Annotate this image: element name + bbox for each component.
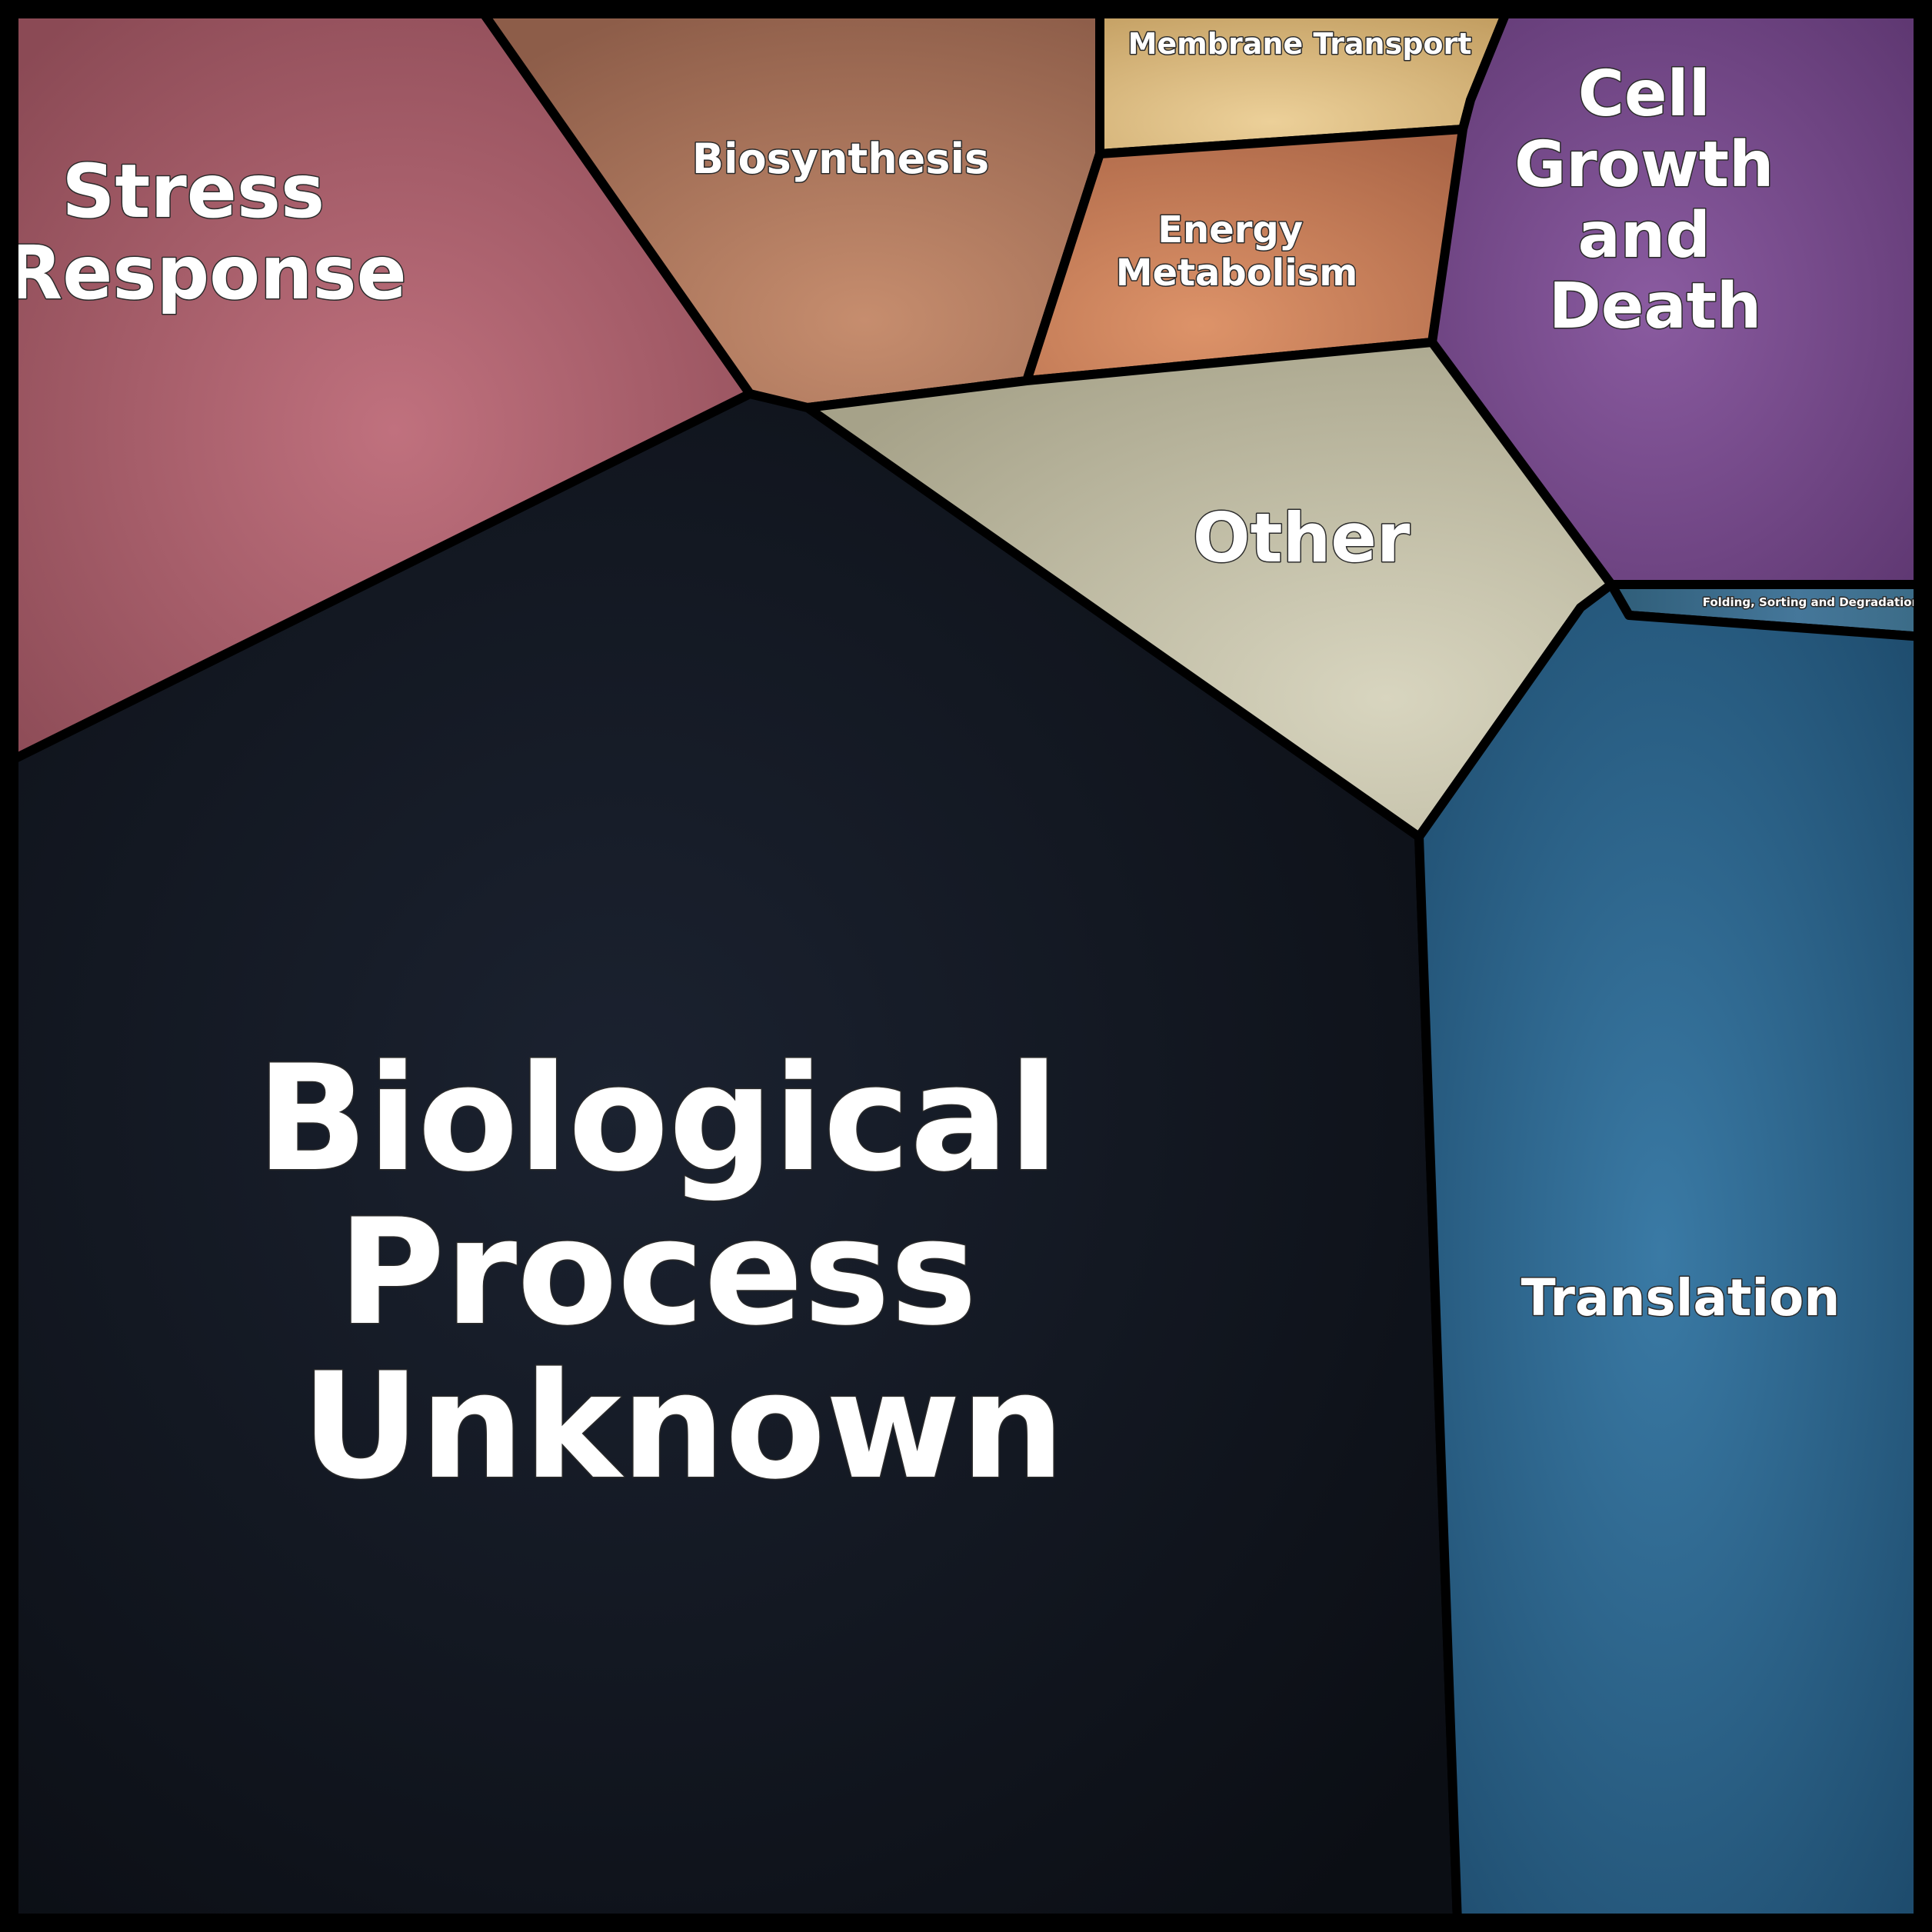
label-line: and — [1578, 199, 1710, 272]
label-line: Metabolism — [1116, 251, 1357, 295]
label-line: Membrane Transport — [1128, 27, 1472, 61]
cell-label-biosynthesis: Biosynthesis — [692, 135, 989, 183]
cell-polygon-translation[interactable] — [1419, 585, 1923, 1923]
cell-label-membrane-transport: Membrane Transport — [1128, 27, 1472, 61]
cell-label-biological-process-unknown: Biological Process Unknown — [256, 1034, 1109, 1511]
label-line: Stress — [62, 148, 325, 235]
label-line: Response — [5, 230, 406, 316]
label-line: Death — [1549, 270, 1762, 343]
label-line: Translation — [1521, 1268, 1840, 1327]
voronoi-treemap-figure: Biological Process Unknown Stress Respon… — [0, 0, 1932, 1932]
label-line: Cell — [1578, 58, 1710, 131]
treemap-canvas: Biological Process Unknown Stress Respon… — [0, 0, 1932, 1932]
treemap-cell-translation[interactable]: Translation — [1419, 585, 1923, 1923]
label-line: Process — [338, 1188, 977, 1357]
cell-label-stress-response: Stress Response — [5, 148, 406, 316]
label-line: Unknown — [301, 1341, 1065, 1511]
label-line: Other — [1193, 498, 1411, 578]
cell-label-folding-sorting-and-degradation: Folding, Sorting and Degradation — [1703, 595, 1920, 609]
label-line: Growth — [1514, 128, 1774, 202]
cell-label-translation: Translation — [1521, 1268, 1840, 1327]
cell-label-other: Other — [1193, 498, 1411, 578]
label-line: Folding, Sorting and Degradation — [1703, 595, 1920, 609]
label-line: Biosynthesis — [692, 135, 989, 183]
label-line: Biological — [256, 1034, 1058, 1204]
label-line: Energy — [1158, 208, 1303, 251]
